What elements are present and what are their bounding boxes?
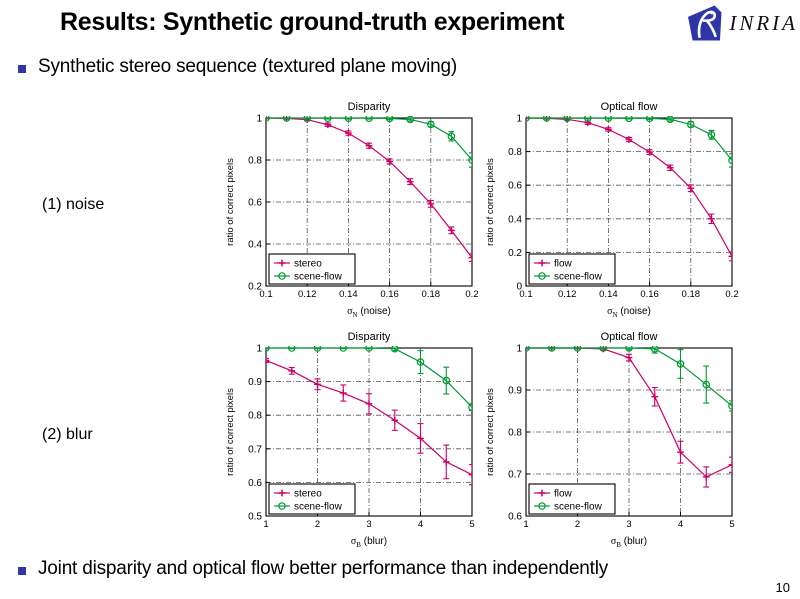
x-tick-label: 5	[729, 519, 734, 530]
x-axis-label: σN (noise)	[347, 306, 391, 319]
x-tick-label: 0.18	[682, 289, 701, 300]
chart-opticalflow-blur: Optical flow123450.60.70.80.91σB (blur)r…	[482, 328, 740, 550]
error-bar	[600, 348, 606, 349]
error-bar	[315, 348, 321, 349]
series-line	[266, 118, 472, 258]
chart-legend: stereoscene-flow	[269, 484, 355, 514]
chart-title: Optical flow	[601, 101, 658, 113]
error-bar	[626, 118, 632, 119]
y-tick-label: 1	[256, 114, 262, 125]
error-bar	[366, 118, 372, 119]
y-axis-label: ratio of correct pixels	[225, 158, 236, 246]
x-axis-label: σN (noise)	[607, 306, 651, 319]
legend-label-scene-flow: scene-flow	[294, 502, 343, 513]
x-tick-label: 0.12	[298, 289, 317, 300]
chart-svg-opticalflow-noise: Optical flow0.10.120.140.160.180.200.20.…	[482, 98, 740, 320]
marker-plus	[729, 253, 736, 260]
legend-label-scene-flow: scene-flow	[554, 272, 603, 283]
y-tick-label: 0.7	[248, 444, 262, 455]
error-bar	[605, 118, 611, 119]
error-bar	[575, 348, 581, 349]
y-tick-label: 0	[516, 282, 522, 293]
error-bar	[544, 118, 550, 119]
y-tick-label: 1	[516, 344, 522, 355]
y-tick-label: 0.8	[508, 428, 522, 439]
y-tick-label: 0.7	[508, 470, 522, 481]
chart-disparity-blur: Disparity123450.50.60.70.80.91σB (blur)r…	[222, 328, 480, 550]
marker-plus	[366, 400, 373, 407]
x-tick-label: 4	[678, 519, 683, 530]
inria-logo: INRIA	[685, 4, 798, 42]
marker-plus	[340, 390, 347, 397]
error-bar	[366, 348, 372, 349]
y-axis-label: ratio of correct pixels	[225, 388, 236, 476]
y-tick-label: 0.2	[248, 282, 262, 293]
x-tick-label: 3	[626, 519, 631, 530]
bullet-synthetic-sequence: Synthetic stereo sequence (textured plan…	[18, 56, 457, 78]
marker-plus	[651, 393, 658, 400]
page-title: Results: Synthetic ground-truth experime…	[60, 8, 660, 37]
bullet-square-icon	[18, 567, 26, 575]
y-tick-label: 1	[256, 344, 262, 355]
y-tick-label: 0.8	[508, 147, 522, 158]
chart-svg-disparity-noise: Disparity0.10.120.140.160.180.20.20.40.6…	[222, 98, 480, 320]
y-tick-label: 0.8	[248, 411, 262, 422]
error-bar	[585, 118, 591, 119]
y-tick-label: 1	[516, 114, 522, 125]
y-tick-label: 0.6	[508, 512, 522, 523]
series-scene-flow	[263, 115, 475, 167]
row-label-blur: (2) blur	[42, 426, 93, 444]
y-tick-label: 0.9	[508, 386, 522, 397]
marker-plus	[469, 471, 476, 478]
y-tick-label: 0.6	[508, 181, 522, 192]
legend-label-scene-flow: scene-flow	[554, 502, 603, 513]
x-tick-label: 0.16	[640, 289, 659, 300]
y-axis-label: ratio of correct pixels	[485, 158, 496, 246]
chart-svg-opticalflow-blur: Optical flow123450.60.70.80.91σB (blur)r…	[482, 328, 740, 550]
chart-disparity-noise: Disparity0.10.120.140.160.180.20.20.40.6…	[222, 98, 480, 320]
x-axis-label: σB (blur)	[611, 536, 647, 549]
legend-label-stereo: stereo	[294, 489, 322, 500]
marker-plus	[729, 461, 736, 468]
legend-label-scene-flow: scene-flow	[294, 272, 343, 283]
chart-legend: stereoscene-flow	[269, 254, 355, 284]
row-label-noise: (1) noise	[42, 196, 104, 214]
marker-plus	[626, 354, 633, 361]
series-line	[266, 118, 472, 160]
y-tick-label: 0.6	[248, 198, 262, 209]
error-bar	[703, 366, 709, 403]
x-tick-label: 0.14	[339, 289, 358, 300]
chart-title: Optical flow	[601, 331, 658, 343]
error-bar	[549, 348, 555, 349]
y-tick-label: 0.8	[248, 156, 262, 167]
x-tick-label: 1	[523, 519, 528, 530]
y-tick-label: 0.5	[248, 512, 262, 523]
error-bar	[678, 350, 684, 379]
error-bar	[340, 348, 346, 349]
error-bar	[523, 348, 529, 349]
marker-plus	[324, 121, 331, 128]
error-bar	[443, 367, 449, 394]
y-tick-label: 0.4	[508, 214, 522, 225]
error-bar	[345, 118, 351, 119]
error-bar	[263, 348, 269, 349]
error-bar	[626, 348, 632, 350]
bullet-text: Synthetic stereo sequence (textured plan…	[38, 56, 457, 78]
y-tick-label: 0.4	[248, 240, 262, 251]
y-tick-label: 0.2	[508, 248, 522, 259]
error-bar	[289, 348, 295, 349]
x-tick-label: 0.2	[725, 289, 738, 300]
legend-label-stereo: stereo	[294, 259, 322, 270]
page-number: 10	[776, 580, 790, 595]
chart-title: Disparity	[348, 331, 391, 343]
bullet-text: Joint disparity and optical flow better …	[38, 558, 608, 580]
x-tick-label: 0.14	[599, 289, 618, 300]
x-tick-label: 4	[418, 519, 423, 530]
error-bar	[418, 351, 424, 374]
x-tick-label: 2	[315, 519, 320, 530]
x-tick-label: 2	[575, 519, 580, 530]
marker-plus	[605, 126, 612, 133]
series-stereo	[263, 115, 476, 262]
error-bar	[304, 118, 310, 119]
inria-logo-mark	[685, 4, 723, 42]
chart-legend: flowscene-flow	[529, 484, 615, 514]
marker-plus	[708, 215, 715, 222]
error-bar	[564, 118, 570, 119]
y-axis-label: ratio of correct pixels	[485, 388, 496, 476]
inria-logo-text: INRIA	[729, 11, 798, 36]
y-tick-label: 0.6	[248, 478, 262, 489]
legend-label-flow: flow	[554, 259, 573, 270]
chart-svg-disparity-blur: Disparity123450.50.60.70.80.91σB (blur)r…	[222, 328, 480, 550]
error-bar	[729, 154, 735, 167]
series-flow	[523, 115, 736, 261]
x-tick-label: 0.2	[465, 289, 478, 300]
legend-label-flow: flow	[554, 489, 573, 500]
chart-title: Disparity	[348, 101, 391, 113]
marker-plus	[288, 367, 295, 374]
bullet-square-icon	[18, 65, 26, 73]
x-tick-label: 0.18	[422, 289, 441, 300]
x-tick-label: 5	[469, 519, 474, 530]
x-tick-label: 3	[366, 519, 371, 530]
x-axis-label: σB (blur)	[351, 536, 387, 549]
error-bar	[325, 118, 331, 119]
error-bar	[284, 118, 290, 119]
x-tick-label: 0.16	[380, 289, 399, 300]
chart-opticalflow-noise: Optical flow0.10.120.140.160.180.200.20.…	[482, 98, 740, 320]
y-tick-label: 0.9	[248, 377, 262, 388]
chart-legend: flowscene-flow	[529, 254, 615, 284]
x-tick-label: 1	[263, 519, 268, 530]
x-tick-label: 0.12	[558, 289, 577, 300]
bullet-conclusion: Joint disparity and optical flow better …	[18, 558, 608, 580]
